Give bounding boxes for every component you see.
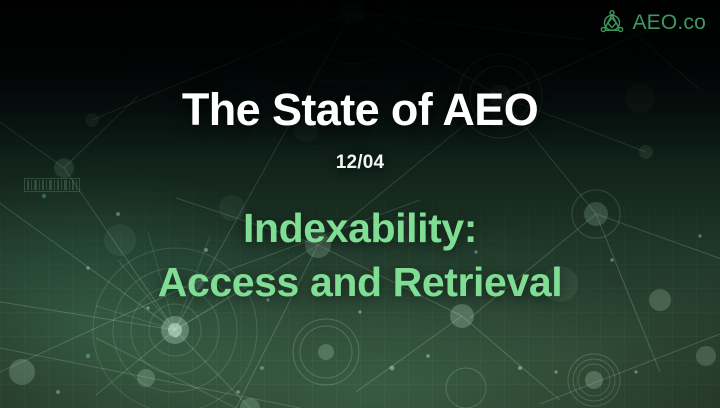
slide-content: The State of AEO 12/04 Indexability: Acc… bbox=[0, 0, 720, 408]
brand-logo-text: AEO.co bbox=[632, 12, 706, 33]
subtitle-line-2: Access and Retrieval bbox=[158, 255, 563, 309]
slide-canvas: AEO.co The State of AEO 12/04 Indexabili… bbox=[0, 0, 720, 408]
brand-logo[interactable]: AEO.co bbox=[599, 9, 706, 35]
slide-subtitle: Indexability: Access and Retrieval bbox=[158, 201, 563, 309]
page-title: The State of AEO bbox=[182, 86, 538, 133]
aeo-triquetra-logo-icon bbox=[599, 9, 625, 35]
subtitle-line-1: Indexability: bbox=[158, 201, 563, 255]
slide-date: 12/04 bbox=[336, 152, 385, 174]
